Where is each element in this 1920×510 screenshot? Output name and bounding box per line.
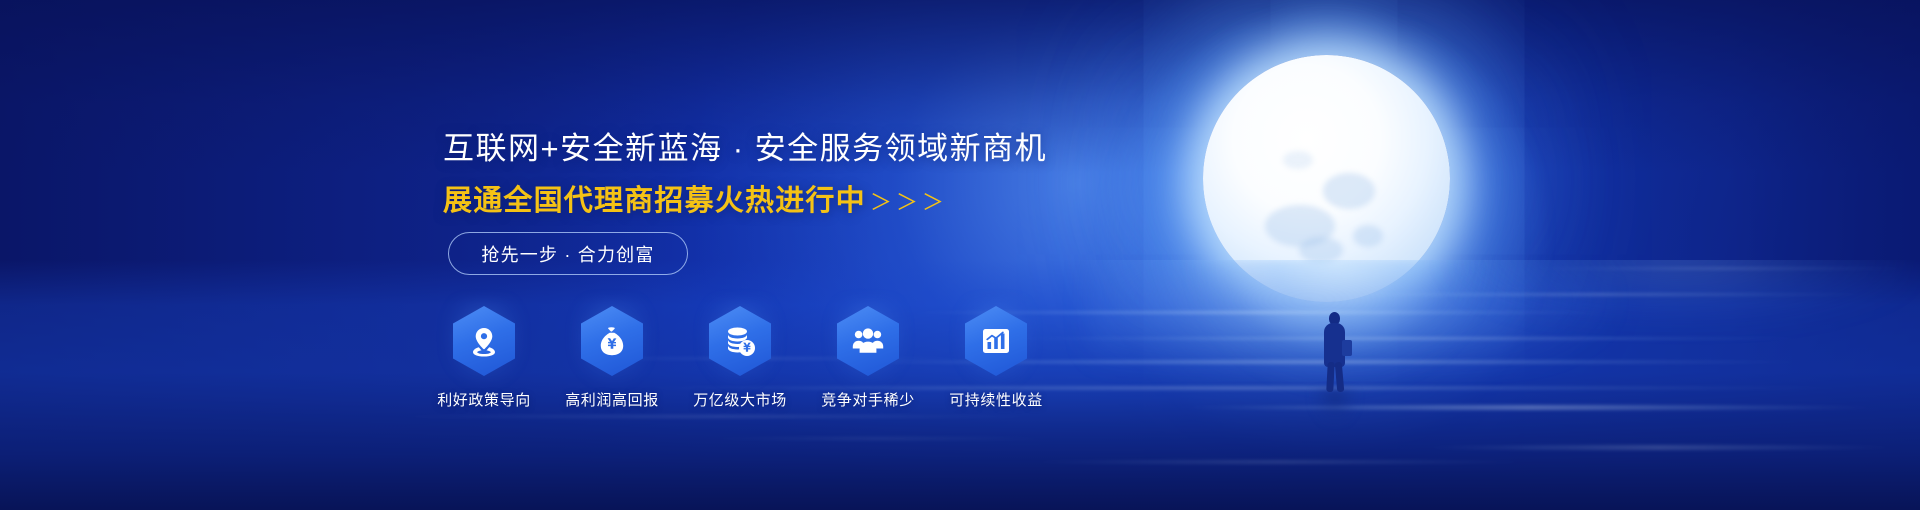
- feature-label: 利好政策导向: [437, 389, 531, 410]
- feature-label: 竞争对手稀少: [821, 389, 915, 410]
- banner-headline: 互联网+安全新蓝海 · 安全服务领域新商机: [443, 123, 1047, 168]
- bar-chart-growth-icon: [979, 324, 1013, 358]
- feature-hex-badge: [581, 306, 643, 376]
- feature-label: 高利润高回报: [565, 389, 659, 410]
- people-group-icon: [851, 324, 885, 358]
- chevron-right-arrows-icon: ＞＞＞: [870, 185, 948, 217]
- cta-pill-button[interactable]: 抢先一步 · 合力创富: [448, 232, 688, 275]
- feature-item[interactable]: 可持续性收益: [944, 306, 1048, 410]
- feature-item[interactable]: 万亿级大市场: [688, 306, 792, 410]
- feature-item[interactable]: 竞争对手稀少: [816, 306, 920, 410]
- feature-item[interactable]: 利好政策导向: [432, 306, 536, 410]
- feature-list: 利好政策导向 高利润高回报: [432, 306, 1048, 410]
- feature-item[interactable]: 高利润高回报: [560, 306, 664, 410]
- coin-stack-yuan-icon: [723, 324, 757, 358]
- feature-hex-badge: [965, 306, 1027, 376]
- banner-content: 互联网+安全新蓝海 · 安全服务领域新商机 展通全国代理商招募火热进行中 ＞＞＞…: [0, 0, 1920, 510]
- promo-banner: 互联网+安全新蓝海 · 安全服务领域新商机 展通全国代理商招募火热进行中 ＞＞＞…: [0, 0, 1920, 510]
- feature-label: 可持续性收益: [949, 389, 1043, 410]
- location-pin-icon: [467, 324, 501, 358]
- feature-hex-badge: [709, 306, 771, 376]
- money-bag-yuan-icon: [595, 324, 629, 358]
- banner-subline-text: 展通全国代理商招募火热进行中: [443, 177, 866, 219]
- banner-subline: 展通全国代理商招募火热进行中 ＞＞＞: [443, 177, 948, 219]
- feature-hex-badge: [453, 306, 515, 376]
- feature-hex-badge: [837, 306, 899, 376]
- cta-pill-label: 抢先一步 · 合力创富: [481, 241, 654, 267]
- feature-label: 万亿级大市场: [693, 389, 787, 410]
